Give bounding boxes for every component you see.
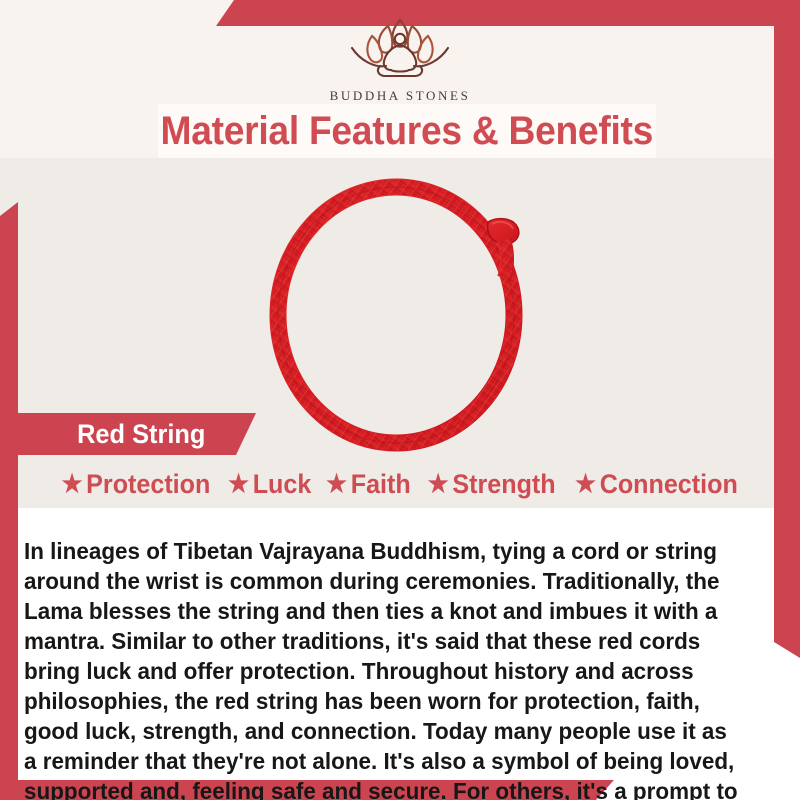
lotus-meditation-icon	[336, 14, 464, 85]
star-icon: ★	[428, 472, 449, 497]
brand-logo: BUDDHA STONES	[0, 14, 800, 104]
benefit-item: ★ Faith	[326, 469, 411, 500]
benefit-label: Faith	[351, 469, 411, 500]
brand-name: BUDDHA STONES	[330, 88, 471, 104]
benefit-label: Strength	[452, 469, 555, 500]
benefit-item: ★ Protection	[61, 469, 210, 500]
benefit-item: ★ Strength	[428, 469, 556, 500]
benefit-item: ★ Luck	[228, 469, 311, 500]
star-icon: ★	[228, 472, 249, 497]
benefit-label: Connection	[600, 469, 738, 500]
star-icon: ★	[61, 472, 82, 497]
page-title-band: Material Features & Benefits	[158, 104, 656, 158]
benefits-row: ★ Protection ★ Luck ★ Faith ★ Strength ★…	[0, 463, 800, 505]
star-icon: ★	[326, 472, 347, 497]
benefit-label: Protection	[86, 469, 210, 500]
benefit-label: Luck	[252, 469, 311, 500]
product-image	[236, 170, 566, 455]
product-infographic: BUDDHA STONES Material Features & Benefi…	[0, 0, 800, 800]
product-description: In lineages of Tibetan Vajrayana Buddhis…	[24, 536, 738, 800]
star-icon: ★	[576, 472, 597, 497]
product-name-banner: Red String	[18, 413, 256, 455]
benefit-item: ★ Connection	[576, 469, 739, 500]
page-title: Material Features & Benefits	[161, 109, 653, 154]
product-name-label: Red String	[77, 419, 205, 450]
